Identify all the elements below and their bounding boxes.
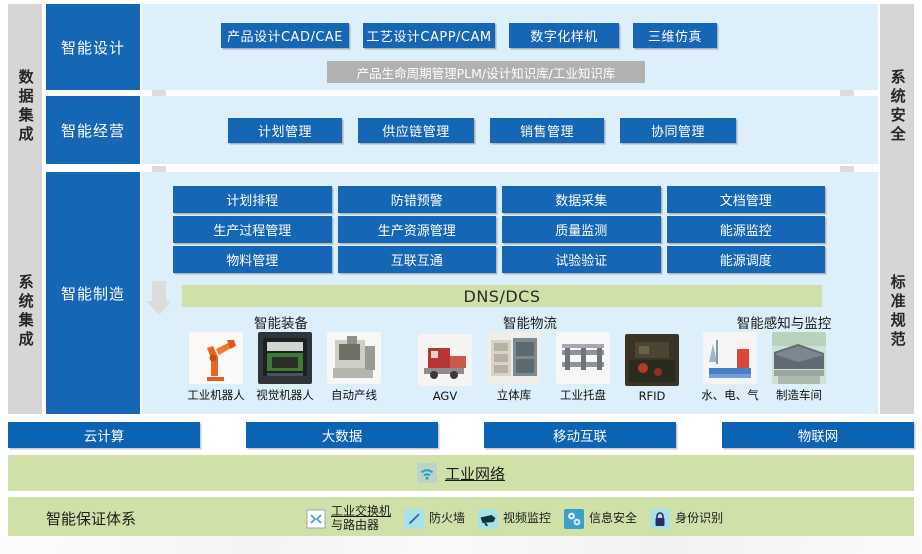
logistics-group-thumbs: AGV 立体库 bbox=[415, 332, 682, 403]
thumb-label: 工业托盘 bbox=[560, 387, 606, 403]
utilities-photo bbox=[703, 332, 757, 384]
design-box-cad-cae[interactable]: 产品设计CAD/CAE bbox=[221, 23, 349, 48]
equipment-group-thumbs: 工业机器人 视觉机器人 bbox=[186, 332, 384, 403]
infra-box-big-data[interactable]: 大数据 bbox=[246, 422, 438, 448]
left-rail-item-system-integration: 系统集成 bbox=[16, 274, 33, 350]
right-rail-item-system-security: 系统安全 bbox=[888, 69, 905, 145]
flow-arrow-left-3 bbox=[146, 281, 172, 315]
mfg-cell-material-mgmt[interactable]: 物料管理 bbox=[173, 246, 332, 273]
security-item-label: 防火墙 bbox=[429, 512, 465, 526]
thumb-industrial-pallet[interactable]: 工业托盘 bbox=[553, 332, 613, 403]
group-caption-intelligent-logistics: 智能物流 bbox=[470, 312, 590, 332]
right-rail-item-standards: 标准规范 bbox=[888, 274, 905, 350]
layer-label-intelligent-design[interactable]: 智能设计 bbox=[46, 4, 140, 90]
thumb-rfid[interactable]: RFID bbox=[622, 334, 682, 403]
manufacturing-function-grid: 计划排程 防错预警 数据采集 文档管理 生产过程管理 生产资源管理 质量监测 能… bbox=[173, 186, 825, 273]
dns-dcs-bar[interactable]: DNS/DCS bbox=[182, 285, 822, 307]
industrial-network-label: 工业网络 bbox=[445, 463, 505, 484]
agv-photo bbox=[418, 334, 472, 386]
design-box-digital-prototype[interactable]: 数字化样机 bbox=[509, 23, 619, 48]
thumb-agv[interactable]: AGV bbox=[415, 334, 475, 403]
security-band-items: 工业交换机 与路由器 防火墙 bbox=[306, 505, 723, 533]
layer-label-intelligent-manufacturing[interactable]: 智能制造 bbox=[46, 172, 140, 414]
automatic-production-line-photo bbox=[327, 332, 381, 384]
industrial-network-band: 工业网络 bbox=[8, 455, 914, 491]
industrial-robot-photo bbox=[189, 332, 243, 384]
design-box-3d-simulation[interactable]: 三维仿真 bbox=[633, 23, 717, 48]
security-item-video-surveillance[interactable]: 视频监控 bbox=[478, 509, 551, 529]
business-layer-boxes: 计划管理 供应链管理 销售管理 协同管理 bbox=[228, 118, 736, 143]
security-item-identity-recognition[interactable]: 身份识别 bbox=[650, 509, 723, 529]
mfg-cell-production-process[interactable]: 生产过程管理 bbox=[173, 216, 332, 243]
mfg-cell-energy-monitoring[interactable]: 能源监控 bbox=[667, 216, 826, 243]
thumb-label: RFID bbox=[639, 389, 666, 403]
infra-box-cloud-computing[interactable]: 云计算 bbox=[8, 422, 200, 448]
business-box-supply-chain[interactable]: 供应链管理 bbox=[358, 118, 474, 143]
information-security-icon bbox=[564, 509, 584, 529]
left-rail-item-data-integration: 数据集成 bbox=[16, 69, 33, 145]
security-item-label: 工业交换机 与路由器 bbox=[331, 505, 391, 533]
infra-box-iot[interactable]: 物联网 bbox=[722, 422, 914, 448]
vision-robot-photo bbox=[258, 332, 312, 384]
video-camera-icon bbox=[478, 509, 498, 529]
left-rail: 数据集成 系统集成 bbox=[8, 4, 42, 414]
sensing-group-thumbs: 水、电、气 制造车间 bbox=[700, 332, 829, 403]
security-item-firewall[interactable]: 防火墙 bbox=[404, 509, 465, 529]
thumb-stereo-warehouse[interactable]: 立体库 bbox=[484, 332, 544, 403]
thumb-manufacturing-workshop[interactable]: 制造车间 bbox=[769, 332, 829, 403]
manufacturing-workshop-photo bbox=[772, 332, 826, 384]
security-assurance-band: 智能保证体系 工业交换机 与路由器 bbox=[8, 497, 914, 540]
thumb-label: 制造车间 bbox=[776, 387, 822, 403]
layer-label-intelligent-business[interactable]: 智能经营 bbox=[46, 96, 140, 164]
group-caption-intelligent-equipment: 智能装备 bbox=[221, 312, 341, 332]
business-box-collab-mgmt[interactable]: 协同管理 bbox=[620, 118, 736, 143]
right-rail: 系统安全 标准规范 bbox=[880, 4, 914, 414]
security-item-switch-router[interactable]: 工业交换机 与路由器 bbox=[306, 505, 391, 533]
security-item-label: 视频监控 bbox=[503, 512, 551, 526]
firewall-icon bbox=[404, 509, 424, 529]
thumb-industrial-robot[interactable]: 工业机器人 bbox=[186, 332, 246, 403]
thumb-label: 自动产线 bbox=[331, 387, 377, 403]
business-box-plan-mgmt[interactable]: 计划管理 bbox=[228, 118, 342, 143]
thumb-label: 立体库 bbox=[497, 387, 532, 403]
mfg-cell-data-acquisition[interactable]: 数据采集 bbox=[502, 186, 661, 213]
stereoscopic-warehouse-photo bbox=[487, 332, 541, 384]
mfg-cell-production-resource[interactable]: 生产资源管理 bbox=[338, 216, 497, 243]
security-item-label: 身份识别 bbox=[675, 512, 723, 526]
thumb-vision-robot[interactable]: 视觉机器人 bbox=[255, 332, 315, 403]
wifi-icon bbox=[417, 463, 437, 483]
diagram-root: 数据集成 系统集成 系统安全 标准规范 智能设计 产品设计CAD/CAE 工艺设… bbox=[0, 0, 922, 554]
security-band-title: 智能保证体系 bbox=[46, 508, 306, 529]
business-box-sales-mgmt[interactable]: 销售管理 bbox=[490, 118, 604, 143]
design-box-capp-cam[interactable]: 工艺设计CAPP/CAM bbox=[363, 23, 495, 48]
thumb-label: 工业机器人 bbox=[187, 387, 245, 403]
thumb-auto-production-line[interactable]: 自动产线 bbox=[324, 332, 384, 403]
bottom-watermark bbox=[0, 536, 922, 554]
mfg-cell-test-verification[interactable]: 试验验证 bbox=[502, 246, 661, 273]
thumb-label: 视觉机器人 bbox=[256, 387, 314, 403]
plm-knowledge-bar[interactable]: 产品生命周期管理PLM/设计知识库/工业知识库 bbox=[327, 61, 645, 83]
lock-identity-icon bbox=[650, 509, 670, 529]
thumb-utilities[interactable]: 水、电、气 bbox=[700, 332, 760, 403]
security-item-information-security[interactable]: 信息安全 bbox=[564, 509, 637, 529]
mfg-cell-document-mgmt[interactable]: 文档管理 bbox=[667, 186, 826, 213]
infra-box-mobile-internet[interactable]: 移动互联 bbox=[484, 422, 676, 448]
mfg-cell-interconnection[interactable]: 互联互通 bbox=[338, 246, 497, 273]
rfid-photo bbox=[625, 334, 679, 386]
group-caption-sensing-monitoring: 智能感知与监控 bbox=[711, 312, 857, 332]
design-layer-boxes: 产品设计CAD/CAE 工艺设计CAPP/CAM 数字化样机 三维仿真 bbox=[221, 23, 717, 48]
thumb-label: AGV bbox=[433, 389, 457, 403]
security-item-label: 信息安全 bbox=[589, 512, 637, 526]
mfg-cell-quality-monitoring[interactable]: 质量监测 bbox=[502, 216, 661, 243]
mfg-cell-error-prevention[interactable]: 防错预警 bbox=[338, 186, 497, 213]
infrastructure-row: 云计算 大数据 移动互联 物联网 bbox=[8, 422, 914, 448]
thumb-label: 水、电、气 bbox=[701, 387, 759, 403]
industrial-pallet-photo bbox=[556, 332, 610, 384]
mfg-cell-energy-dispatch[interactable]: 能源调度 bbox=[667, 246, 826, 273]
switch-router-icon bbox=[306, 509, 326, 529]
mfg-cell-plan-scheduling[interactable]: 计划排程 bbox=[173, 186, 332, 213]
